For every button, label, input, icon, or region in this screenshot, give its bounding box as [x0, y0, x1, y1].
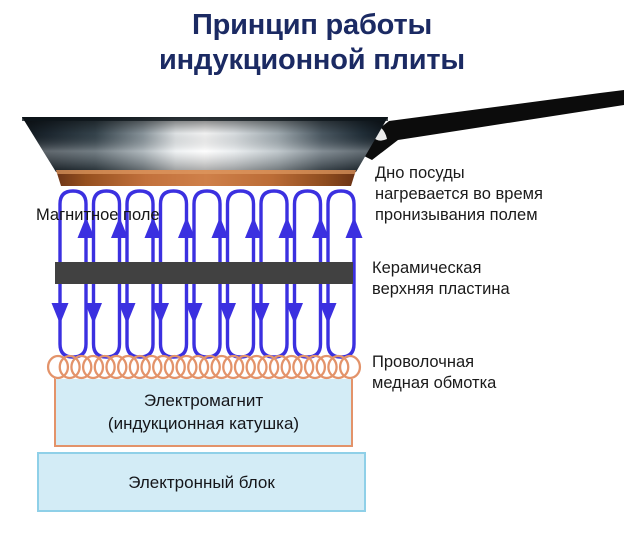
pan-body — [22, 117, 388, 172]
frying-pan — [0, 0, 624, 544]
pan-handle — [352, 90, 624, 160]
diagram-canvas: Принцип работы индукционной плиты — [0, 0, 624, 544]
pan-copper-highlight — [56, 170, 356, 174]
